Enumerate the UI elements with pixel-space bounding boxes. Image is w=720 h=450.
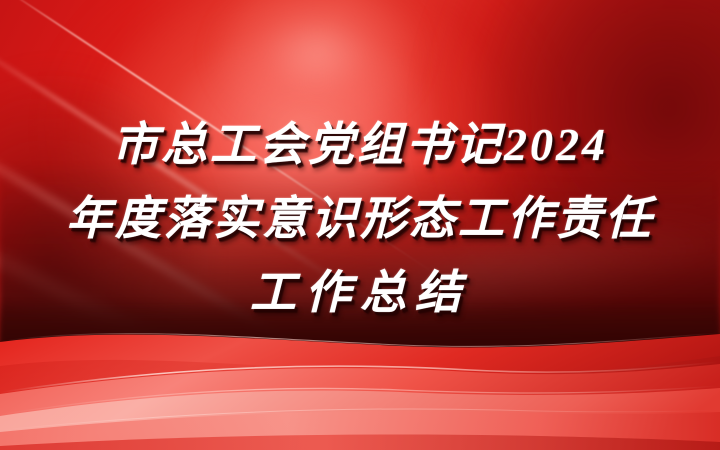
- bottom-ribbon-waves: [0, 320, 720, 450]
- banner-poster: 市总工会党组书记2024 年度落实意识形态工作责任 工作总结: [0, 0, 720, 450]
- title-line-2: 年度落实意识形态工作责任: [0, 182, 720, 256]
- title-line-3: 工作总结: [0, 256, 720, 330]
- poster-title: 市总工会党组书记2024 年度落实意识形态工作责任 工作总结: [0, 108, 720, 330]
- title-line-1: 市总工会党组书记2024: [0, 108, 720, 182]
